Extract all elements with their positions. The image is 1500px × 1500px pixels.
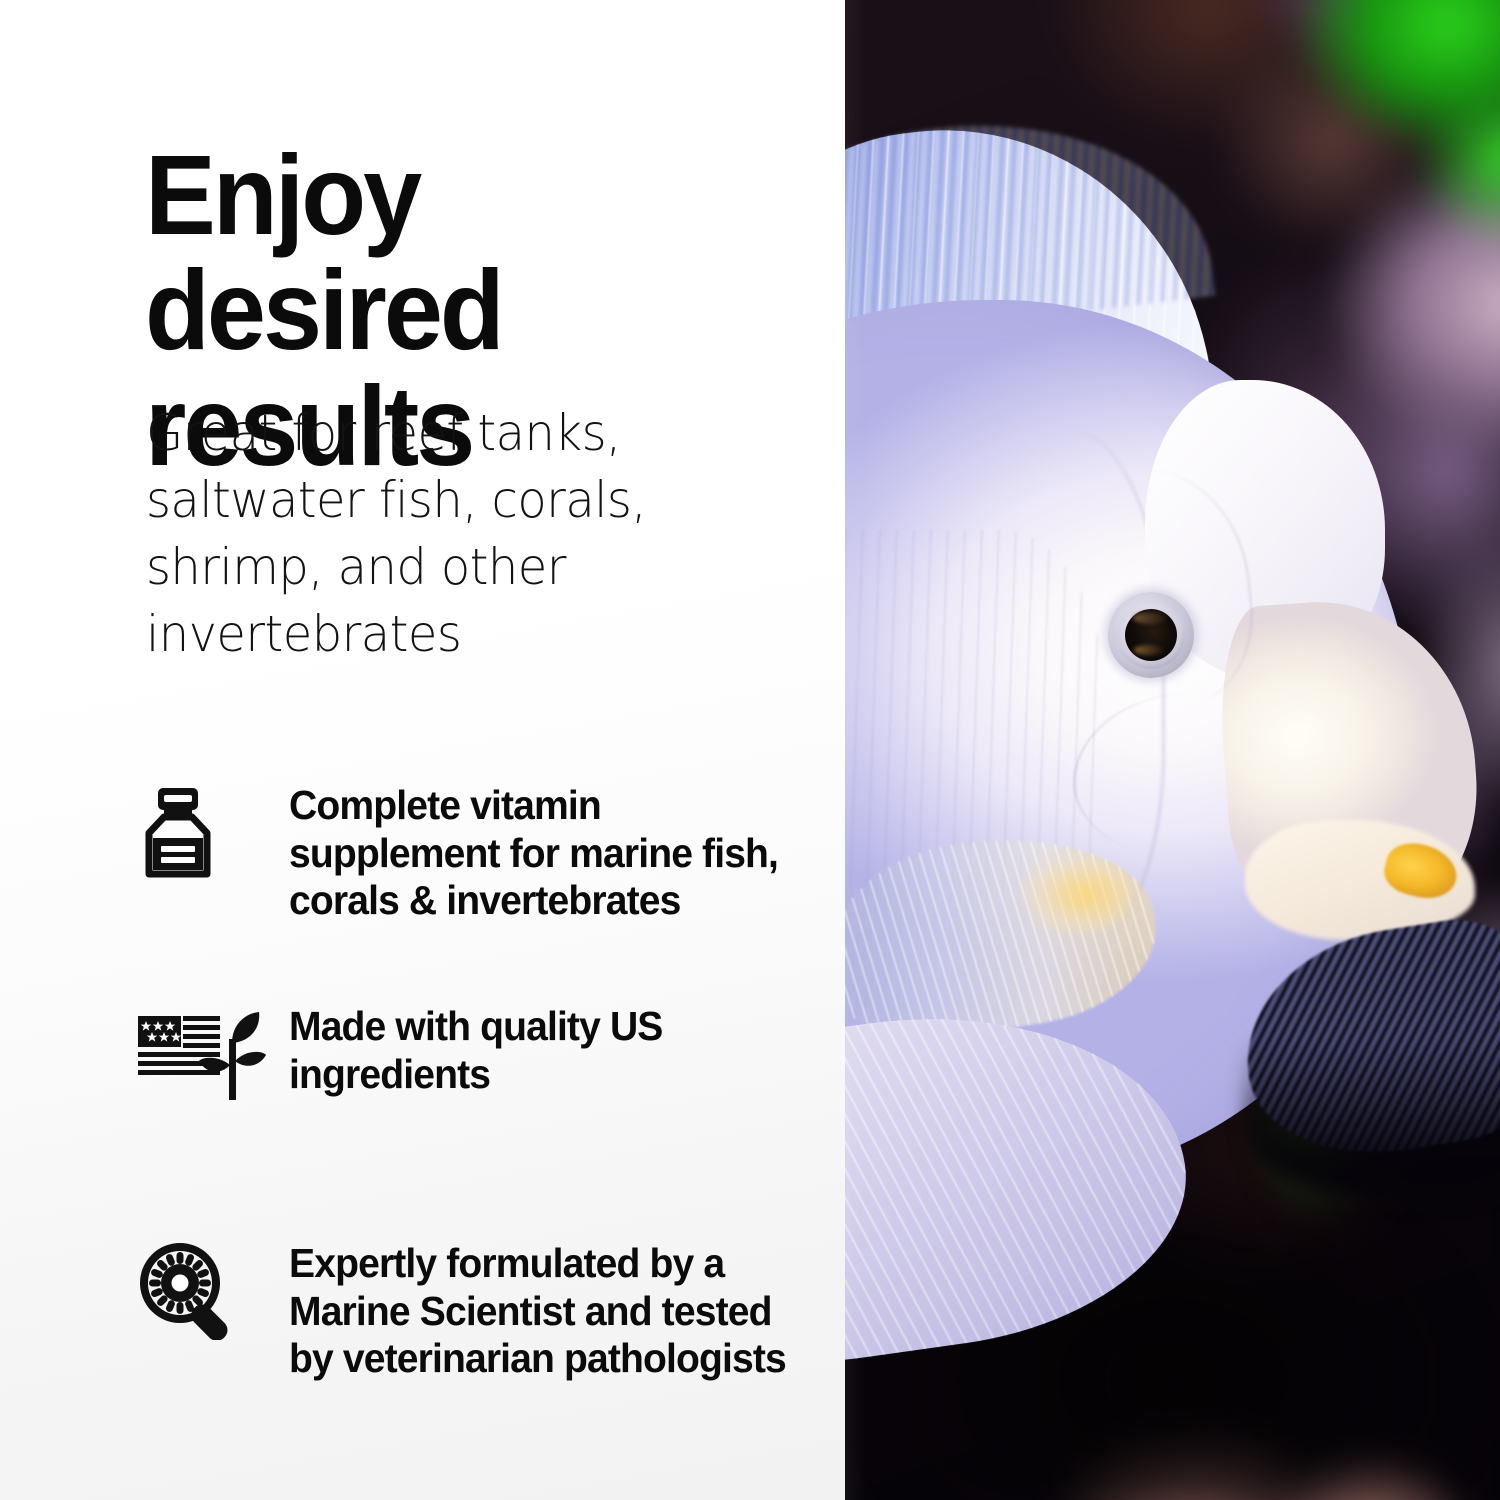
feature-icon-slot bbox=[137, 1003, 289, 1101]
product-lifestyle-photo bbox=[845, 0, 1500, 1500]
feature-icon-slot bbox=[137, 782, 289, 878]
content-panel: Enjoy desired results Great for reef tan… bbox=[0, 0, 845, 1500]
feature-item: Expertly formulated by a Marine Scientis… bbox=[137, 1240, 827, 1383]
feature-text: Expertly formulated by a Marine Scientis… bbox=[289, 1240, 808, 1383]
feature-text: Complete vitamin supplement for marine f… bbox=[289, 782, 808, 925]
feature-item: Made with quality US ingredients bbox=[137, 1003, 827, 1101]
product-feature-banner: Enjoy desired results Great for reef tan… bbox=[0, 0, 1500, 1500]
feature-text: Made with quality US ingredients bbox=[289, 1003, 808, 1098]
fish-pectoral-fin-highlight bbox=[1020, 855, 1130, 935]
magnifier-microbe-icon bbox=[137, 1242, 241, 1340]
feature-icon-slot bbox=[137, 1240, 289, 1340]
subheadline: Great for reef tanks, saltwater fish, co… bbox=[146, 400, 760, 668]
supplement-bottle-icon bbox=[137, 786, 223, 878]
fish-eye-glint-top bbox=[1133, 612, 1167, 624]
feature-item: Complete vitamin supplement for marine f… bbox=[137, 782, 827, 925]
fish-dark-fin-shadow bbox=[1245, 1040, 1500, 1200]
us-flag-plant-icon bbox=[137, 1009, 267, 1101]
fish-eye-glint-bottom bbox=[1134, 645, 1164, 655]
